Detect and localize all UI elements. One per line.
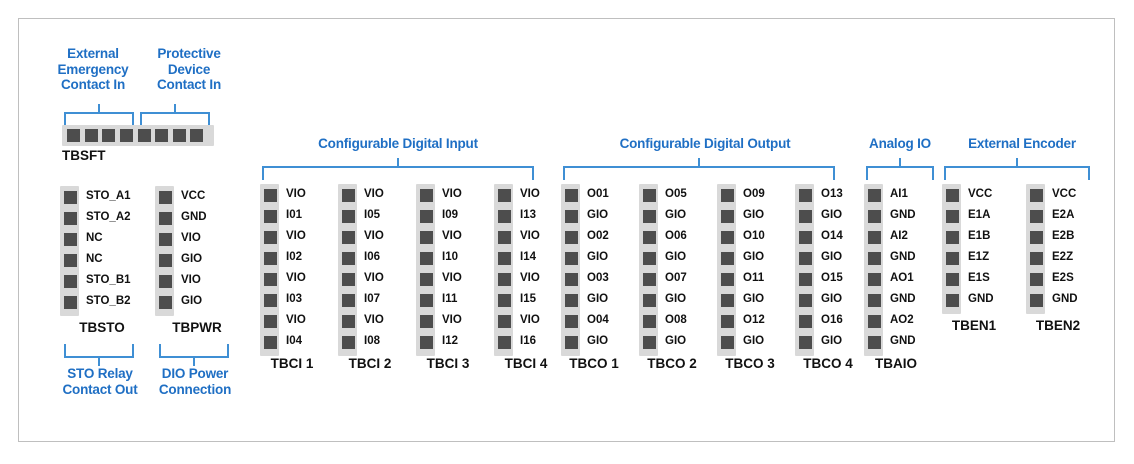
pin-slot[interactable] (1028, 228, 1043, 249)
pin-slot[interactable] (944, 207, 959, 228)
pin-label: AO2 (890, 310, 916, 331)
labels-tbci2: VIOI05VIOI06VIOI07VIOI08 (364, 184, 384, 352)
pin-label: GIO (587, 289, 609, 310)
pin-label: E2S (1052, 268, 1078, 289)
pin-slot[interactable] (563, 270, 578, 291)
pin-slot[interactable] (62, 230, 77, 251)
terminal-block-tbsft[interactable] (62, 125, 214, 146)
pin-slot[interactable] (641, 249, 656, 270)
heading-dio-power-connection: DIO Power Connection (145, 366, 245, 397)
pin-square-icon (563, 292, 580, 309)
pin-label: VIO (442, 184, 462, 205)
pin-slot[interactable] (797, 291, 812, 312)
terminal-block-tben1[interactable] (942, 184, 961, 314)
pin-slot[interactable] (563, 207, 578, 228)
pin-square-icon (641, 271, 658, 288)
pin-square-icon (418, 313, 435, 330)
pin-slot[interactable] (1028, 270, 1043, 291)
pin-slot[interactable] (866, 186, 881, 207)
terminal-block-tbco2[interactable] (639, 184, 658, 356)
pin-label: VIO (364, 226, 384, 247)
pin-square-icon (719, 271, 736, 288)
labels-tben1: VCCE1AE1BE1ZE1SGND (968, 184, 994, 310)
pin-slot[interactable] (797, 249, 812, 270)
pin-slot[interactable] (563, 228, 578, 249)
label-tbsft: TBSFT (62, 148, 132, 163)
pin-slot[interactable] (719, 228, 734, 249)
pin-square-icon (866, 250, 883, 267)
pin-square-icon (496, 229, 513, 246)
pin-label: I02 (286, 247, 306, 268)
pin-slot[interactable] (157, 272, 172, 293)
pin-slot[interactable] (418, 333, 433, 354)
pin-slot[interactable] (418, 312, 433, 333)
pin-square-icon (563, 208, 580, 225)
pin-square-icon (62, 210, 79, 227)
pin-slot[interactable] (157, 251, 172, 272)
pin-slot[interactable] (719, 312, 734, 333)
pin-slot[interactable] (797, 228, 812, 249)
pin-square-icon[interactable] (190, 129, 203, 142)
terminal-block-tben2[interactable] (1026, 184, 1045, 314)
pin-slot[interactable] (157, 209, 172, 230)
pin-slot[interactable] (340, 249, 355, 270)
pin-label: I16 (520, 331, 540, 352)
pin-slot[interactable] (262, 186, 277, 207)
pin-slot[interactable] (262, 291, 277, 312)
pin-label: O08 (665, 310, 687, 331)
pin-label: GIO (665, 205, 687, 226)
pin-slot[interactable] (563, 333, 578, 354)
pin-square-icon (563, 187, 580, 204)
pin-label: VCC (181, 186, 207, 207)
pin-label: NC (86, 228, 131, 249)
pin-slot[interactable] (719, 270, 734, 291)
pin-label: GND (181, 207, 207, 228)
labels-tbco1: O01GIOO02GIOO03GIOO04GIO (587, 184, 609, 352)
pin-slot[interactable] (797, 207, 812, 228)
pin-label: GIO (665, 331, 687, 352)
pin-slot[interactable] (496, 291, 511, 312)
label-tbci2: TBCI 2 (330, 356, 410, 371)
pin-slot[interactable] (641, 333, 656, 354)
pin-square-icon (262, 250, 279, 267)
pin-slot[interactable] (340, 291, 355, 312)
terminal-block-tbaio[interactable] (864, 184, 883, 356)
pin-square-icon (563, 334, 580, 351)
pin-square-icon (496, 334, 513, 351)
pin-square-icon (340, 271, 357, 288)
pin-slot[interactable] (719, 333, 734, 354)
pin-square-icon (719, 292, 736, 309)
pin-slot[interactable] (866, 333, 881, 354)
pin-slot[interactable] (157, 188, 172, 209)
pin-square-icon (641, 292, 658, 309)
pin-slot[interactable] (866, 270, 881, 291)
pin-slot[interactable] (944, 249, 959, 270)
pin-slot[interactable] (62, 188, 77, 209)
pin-label: GIO (821, 247, 843, 268)
pin-square-icon (797, 187, 814, 204)
pin-square-icon (496, 271, 513, 288)
pin-square-icon[interactable] (85, 129, 98, 142)
labels-tben2: VCCE2AE2BE2ZE2SGND (1052, 184, 1078, 310)
pin-label: GND (968, 289, 994, 310)
terminal-block-tbco4[interactable] (795, 184, 814, 356)
pin-square-icon (944, 208, 961, 225)
pin-square-icon (797, 229, 814, 246)
pin-slot[interactable] (262, 270, 277, 291)
pin-label: E2B (1052, 226, 1078, 247)
pin-square-icon (496, 313, 513, 330)
pin-slot[interactable] (866, 249, 881, 270)
pin-slot[interactable] (641, 312, 656, 333)
pin-slot[interactable] (641, 207, 656, 228)
pin-slot[interactable] (944, 228, 959, 249)
pin-square-icon (62, 189, 79, 206)
pin-square-icon (797, 334, 814, 351)
pin-label: AI2 (890, 226, 916, 247)
pin-label: VIO (181, 270, 207, 291)
pin-slot[interactable] (418, 270, 433, 291)
pin-label: VCC (968, 184, 994, 205)
pin-label: O02 (587, 226, 609, 247)
pin-slot[interactable] (1028, 291, 1043, 312)
pin-square-icon[interactable] (173, 129, 186, 142)
pin-label: O06 (665, 226, 687, 247)
pin-square-icon (1028, 250, 1045, 267)
pin-slot[interactable] (944, 186, 959, 207)
pin-square-icon (866, 229, 883, 246)
pin-label: I10 (442, 247, 462, 268)
pin-slot[interactable] (340, 270, 355, 291)
pin-square-icon (496, 250, 513, 267)
pin-label: O13 (821, 184, 843, 205)
heading-analog-io: Analog IO (855, 136, 945, 152)
pin-slot[interactable] (496, 312, 511, 333)
pin-label: AO1 (890, 268, 916, 289)
pin-square-icon (719, 313, 736, 330)
pin-slot[interactable] (641, 291, 656, 312)
pin-slot[interactable] (1028, 186, 1043, 207)
pin-slot[interactable] (641, 228, 656, 249)
pin-label: O10 (743, 226, 765, 247)
pin-square-icon (797, 292, 814, 309)
label-tbci3: TBCI 3 (408, 356, 488, 371)
pin-label: O03 (587, 268, 609, 289)
pin-square-icon (262, 292, 279, 309)
pin-square-icon (157, 210, 174, 227)
pin-square-icon (418, 250, 435, 267)
pin-square-icon[interactable] (155, 129, 168, 142)
pin-square-icon (944, 292, 961, 309)
pin-square-icon (262, 229, 279, 246)
pin-square-icon[interactable] (67, 129, 80, 142)
pin-square-icon (797, 271, 814, 288)
pin-label: AI1 (890, 184, 916, 205)
pin-slot[interactable] (719, 186, 734, 207)
pin-label: E2A (1052, 205, 1078, 226)
pin-label: O12 (743, 310, 765, 331)
pin-label: I11 (442, 289, 462, 310)
pin-square-icon (797, 313, 814, 330)
pin-slot[interactable] (496, 249, 511, 270)
pin-slot[interactable] (496, 207, 511, 228)
terminal-block-tbci1[interactable] (260, 184, 279, 356)
pin-label: GND (1052, 289, 1078, 310)
pin-square-icon (340, 313, 357, 330)
pin-slot[interactable] (1028, 207, 1043, 228)
pin-slot[interactable] (418, 207, 433, 228)
pin-slot[interactable] (157, 230, 172, 251)
pin-label: I12 (442, 331, 462, 352)
pin-slot[interactable] (262, 312, 277, 333)
labels-tbci4: VIOI13VIOI14VIOI15VIOI16 (520, 184, 540, 352)
pin-square-icon (157, 273, 174, 290)
pin-label: O11 (743, 268, 765, 289)
heading-protective-device-contact-in: Protective Device Contact In (146, 46, 232, 93)
pin-label: STO_B1 (86, 270, 131, 291)
pin-square-icon[interactable] (138, 129, 151, 142)
pin-slot[interactable] (797, 333, 812, 354)
labels-tbaio: AI1GNDAI2GNDAO1GNDAO2GND (890, 184, 916, 352)
pin-square-icon (1028, 271, 1045, 288)
pin-square-icon (866, 292, 883, 309)
terminal-block-tbci4[interactable] (494, 184, 513, 356)
pin-square-icon (1028, 187, 1045, 204)
pin-square-icon (641, 208, 658, 225)
pin-square-icon[interactable] (102, 129, 115, 142)
pin-label: VIO (364, 310, 384, 331)
label-tbco3: TBCO 3 (709, 356, 791, 371)
pin-label: VIO (520, 310, 540, 331)
pin-label: GND (890, 247, 916, 268)
bracket-analog-io (866, 166, 934, 180)
pin-slot[interactable] (418, 228, 433, 249)
bracket-dio-power (159, 344, 229, 358)
pin-square-icon (262, 313, 279, 330)
pin-label: VIO (520, 226, 540, 247)
pin-slot[interactable] (496, 270, 511, 291)
pin-slot[interactable] (157, 293, 172, 314)
pin-square-icon (157, 189, 174, 206)
pin-label: VIO (286, 184, 306, 205)
pin-square-icon (157, 252, 174, 269)
pin-slot[interactable] (62, 272, 77, 293)
pin-label: VIO (286, 268, 306, 289)
bracket-external-encoder (944, 166, 1090, 180)
pin-slot[interactable] (719, 207, 734, 228)
pin-label: I05 (364, 205, 384, 226)
pin-slot[interactable] (418, 249, 433, 270)
pin-square-icon (340, 229, 357, 246)
pin-slot[interactable] (62, 209, 77, 230)
pin-label: GIO (743, 289, 765, 310)
pin-slot[interactable] (563, 291, 578, 312)
pin-slot[interactable] (563, 312, 578, 333)
pin-square-icon (496, 208, 513, 225)
pin-label: O01 (587, 184, 609, 205)
pin-square-icon (62, 294, 79, 311)
pin-square-icon (563, 229, 580, 246)
pin-slot[interactable] (262, 249, 277, 270)
pin-square-icon (944, 187, 961, 204)
pin-slot[interactable] (340, 312, 355, 333)
pin-square-icon (719, 250, 736, 267)
pin-label: VIO (520, 184, 540, 205)
pin-slot[interactable] (797, 270, 812, 291)
pin-square-icon (496, 292, 513, 309)
pin-slot[interactable] (866, 207, 881, 228)
pin-slot[interactable] (1028, 249, 1043, 270)
pin-label: GIO (587, 247, 609, 268)
pin-label: VIO (364, 268, 384, 289)
label-tbco2: TBCO 2 (631, 356, 713, 371)
pin-slot[interactable] (262, 333, 277, 354)
pin-label: GIO (181, 291, 207, 312)
pin-square-icon (944, 229, 961, 246)
pin-slot[interactable] (496, 228, 511, 249)
pin-label: I01 (286, 205, 306, 226)
terminal-block-tbsto[interactable] (60, 186, 79, 316)
label-tbpwr: TBPWR (149, 320, 245, 335)
pin-square-icon (866, 271, 883, 288)
pin-square-icon (418, 271, 435, 288)
pin-label: O16 (821, 310, 843, 331)
pin-label: I15 (520, 289, 540, 310)
pin-slot[interactable] (719, 291, 734, 312)
pin-label: NC (86, 249, 131, 270)
pin-slot[interactable] (62, 251, 77, 272)
pin-slot[interactable] (262, 207, 277, 228)
heading-configurable-digital-output: Configurable Digital Output (575, 136, 835, 152)
pin-slot[interactable] (340, 186, 355, 207)
pin-square-icon (262, 187, 279, 204)
pin-label: VIO (520, 268, 540, 289)
pin-square-icon (418, 229, 435, 246)
pin-square-icon (641, 334, 658, 351)
pin-label: GIO (821, 289, 843, 310)
terminal-block-tbco3[interactable] (717, 184, 736, 356)
label-tbsto: TBSTO (54, 320, 150, 335)
pin-label: O07 (665, 268, 687, 289)
labels-tbci3: VIOI09VIOI10VIOI11VIOI12 (442, 184, 462, 352)
pin-square-icon (340, 250, 357, 267)
pin-slot[interactable] (418, 291, 433, 312)
pin-slot[interactable] (340, 333, 355, 354)
heading-sto-relay-contact-out: STO Relay Contact Out (50, 366, 150, 397)
pin-slot[interactable] (563, 249, 578, 270)
pin-label: GIO (587, 331, 609, 352)
pin-slot[interactable] (340, 207, 355, 228)
heading-configurable-digital-input: Configurable Digital Input (273, 136, 523, 152)
pin-slot[interactable] (866, 228, 881, 249)
pin-slot[interactable] (496, 186, 511, 207)
pin-square-icon (340, 208, 357, 225)
pin-slot[interactable] (866, 291, 881, 312)
pin-slot[interactable] (418, 186, 433, 207)
pin-slot[interactable] (944, 270, 959, 291)
pin-square-icon (719, 187, 736, 204)
pin-square-icon (641, 250, 658, 267)
pin-label: GND (890, 289, 916, 310)
pin-label: O04 (587, 310, 609, 331)
label-tbco1: TBCO 1 (553, 356, 635, 371)
pin-label: I06 (364, 247, 384, 268)
pin-square-icon (496, 187, 513, 204)
pin-label: GIO (587, 205, 609, 226)
labels-tbci1: VIOI01VIOI02VIOI03VIOI04 (286, 184, 306, 352)
pin-square-icon (1028, 208, 1045, 225)
pin-slot[interactable] (866, 312, 881, 333)
heading-external-encoder: External Encoder (942, 136, 1102, 152)
pin-square-icon[interactable] (120, 129, 133, 142)
pin-label: GND (890, 205, 916, 226)
pin-label: I07 (364, 289, 384, 310)
pin-label: E1Z (968, 247, 994, 268)
pin-square-icon (563, 313, 580, 330)
pin-label: GIO (743, 247, 765, 268)
pin-square-icon (418, 292, 435, 309)
pin-slot[interactable] (641, 270, 656, 291)
pin-label: E1A (968, 205, 994, 226)
pin-slot[interactable] (262, 228, 277, 249)
pin-square-icon (340, 334, 357, 351)
terminal-block-tbci2[interactable] (338, 184, 357, 356)
pin-label: GIO (743, 205, 765, 226)
pin-square-icon (157, 231, 174, 248)
pin-label: I09 (442, 205, 462, 226)
pin-label: STO_A1 (86, 186, 131, 207)
bracket-protective-device (140, 112, 210, 126)
pin-label: O15 (821, 268, 843, 289)
pin-label: VIO (442, 310, 462, 331)
pin-label: GIO (665, 289, 687, 310)
pin-square-icon (866, 313, 883, 330)
pin-label: O09 (743, 184, 765, 205)
pin-slot[interactable] (563, 186, 578, 207)
terminal-block-tbco1[interactable] (561, 184, 580, 356)
pin-square-icon (62, 273, 79, 290)
pin-square-icon (262, 334, 279, 351)
pin-slot[interactable] (797, 312, 812, 333)
pin-slot[interactable] (719, 249, 734, 270)
labels-tbco2: O05GIOO06GIOO07GIOO08GIO (665, 184, 687, 352)
pin-label: GIO (181, 249, 207, 270)
pin-label: VIO (442, 268, 462, 289)
pin-label: GND (890, 331, 916, 352)
pin-slot[interactable] (641, 186, 656, 207)
pin-label: I13 (520, 205, 540, 226)
pin-square-icon (418, 187, 435, 204)
pin-slot[interactable] (340, 228, 355, 249)
pin-square-icon (62, 252, 79, 269)
bracket-digital-input (262, 166, 534, 180)
pin-slot[interactable] (944, 291, 959, 312)
pin-label: VIO (286, 226, 306, 247)
pin-square-icon (262, 208, 279, 225)
pin-label: VIO (364, 184, 384, 205)
pin-square-icon (641, 229, 658, 246)
terminal-block-tbpwr[interactable] (155, 186, 174, 316)
bracket-external-emergency (64, 112, 134, 126)
pin-slot[interactable] (496, 333, 511, 354)
pin-slot[interactable] (797, 186, 812, 207)
terminal-block-tbci3[interactable] (416, 184, 435, 356)
pin-slot[interactable] (62, 293, 77, 314)
pin-square-icon (866, 334, 883, 351)
pin-square-icon (418, 208, 435, 225)
